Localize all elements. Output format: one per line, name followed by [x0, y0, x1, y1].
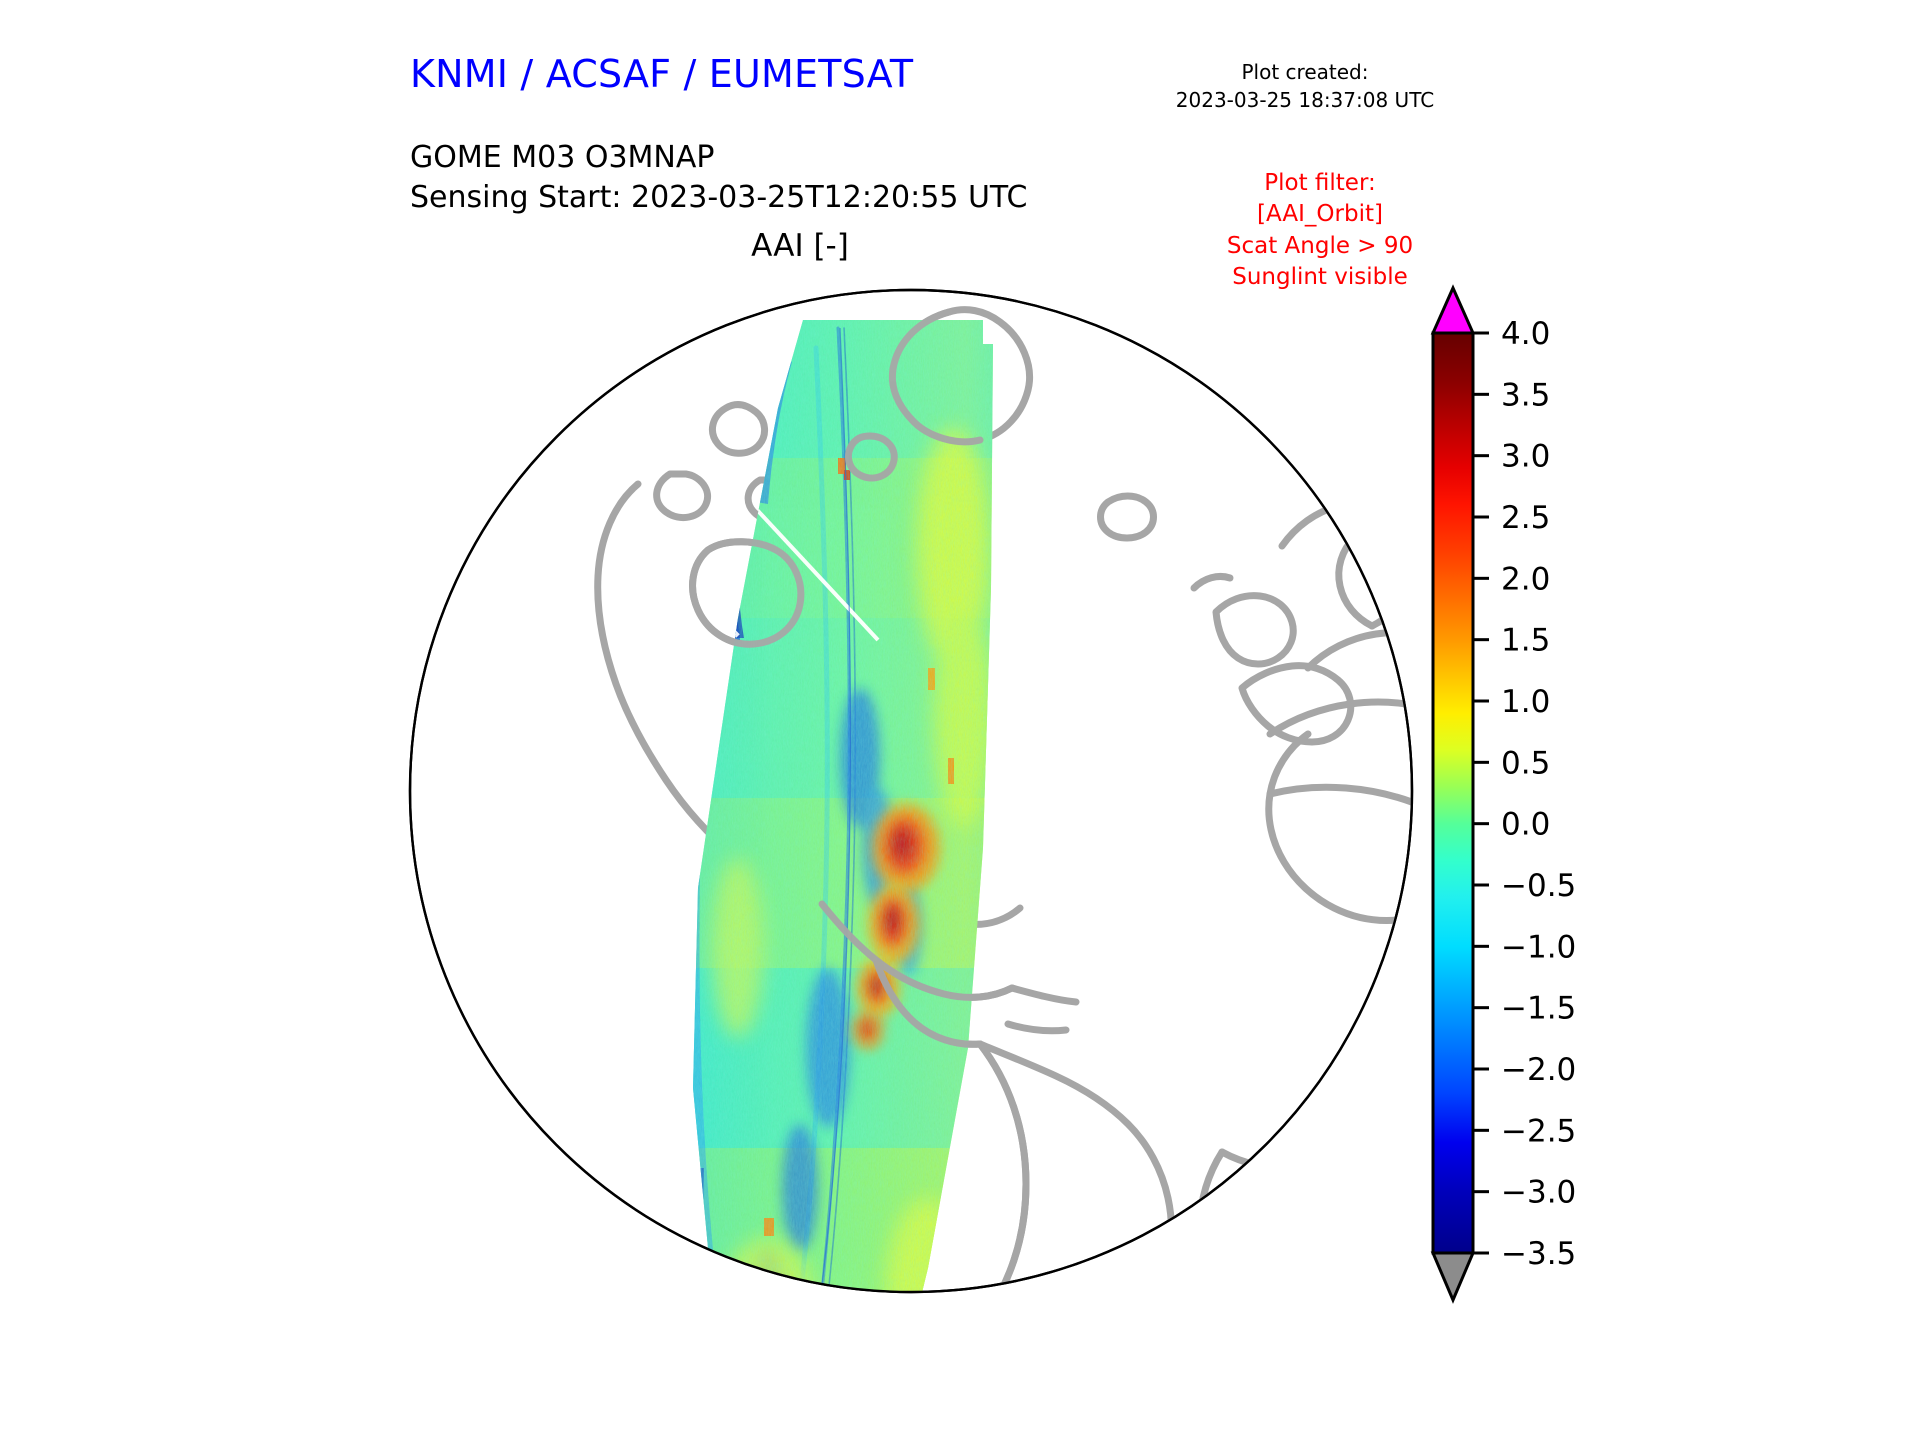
colorbar-tick-label: 3.0 [1501, 439, 1550, 475]
plot-filter-block: Plot filter: [AAI_Orbit] Scat Angle > 90… [1140, 168, 1500, 293]
colorbar-svg: 4.03.53.02.52.01.51.00.50.0−0.5−1.0−1.5−… [1425, 280, 1755, 1310]
plot-page: KNMI / ACSAF / EUMETSAT Plot created: 20… [0, 0, 1920, 1440]
colorbar-under-arrow [1433, 1253, 1473, 1300]
instrument-product-line: GOME M03 O3MNAP [410, 138, 1027, 178]
colorbar-ticks: 4.03.53.02.52.01.51.00.50.0−0.5−1.0−1.5−… [1473, 316, 1576, 1272]
plot-created-label: Plot created: [1110, 58, 1500, 86]
plot-filter-condition: Scat Angle > 90 [1140, 231, 1500, 262]
colorbar-over-arrow [1433, 288, 1473, 333]
colorbar-tick-label: −2.5 [1501, 1113, 1576, 1149]
plot-created-timestamp: 2023-03-25 18:37:08 UTC [1110, 86, 1500, 114]
dataset-metadata: GOME M03 O3MNAP Sensing Start: 2023-03-2… [410, 138, 1027, 218]
colorbar-tick-label: 1.5 [1501, 623, 1550, 659]
plot-filter-product: [AAI_Orbit] [1140, 199, 1500, 230]
colorbar-tick-label: −3.5 [1501, 1236, 1576, 1272]
colorbar-tick-label: 3.5 [1501, 377, 1550, 413]
colorbar-tick-label: −0.5 [1501, 868, 1576, 904]
plot-filter-label: Plot filter: [1140, 168, 1500, 199]
colorbar-tick-label: −1.0 [1501, 929, 1576, 965]
sensing-start-line: Sensing Start: 2023-03-25T12:20:55 UTC [410, 178, 1027, 218]
colorbar-tick-label: −2.0 [1501, 1052, 1576, 1088]
colorbar-bar [1433, 333, 1473, 1253]
colorbar-tick-label: 0.5 [1501, 745, 1550, 781]
plot-created-block: Plot created: 2023-03-25 18:37:08 UTC [1110, 58, 1500, 115]
colorbar-tick-label: −3.0 [1501, 1175, 1576, 1211]
plot-title: AAI [-] [520, 228, 1080, 264]
colorbar-tick-label: −1.5 [1501, 991, 1576, 1027]
globe-svg [408, 288, 1414, 1294]
globe-map [408, 288, 1414, 1294]
colorbar-tick-label: 4.0 [1501, 316, 1550, 352]
colorbar-tick-label: 0.0 [1501, 807, 1550, 843]
organisation-title: KNMI / ACSAF / EUMETSAT [410, 52, 913, 96]
colorbar-tick-label: 2.5 [1501, 500, 1550, 536]
colorbar: 4.03.53.02.52.01.51.00.50.0−0.5−1.0−1.5−… [1425, 280, 1755, 1310]
colorbar-tick-label: 2.0 [1501, 561, 1550, 597]
colorbar-tick-label: 1.0 [1501, 684, 1550, 720]
